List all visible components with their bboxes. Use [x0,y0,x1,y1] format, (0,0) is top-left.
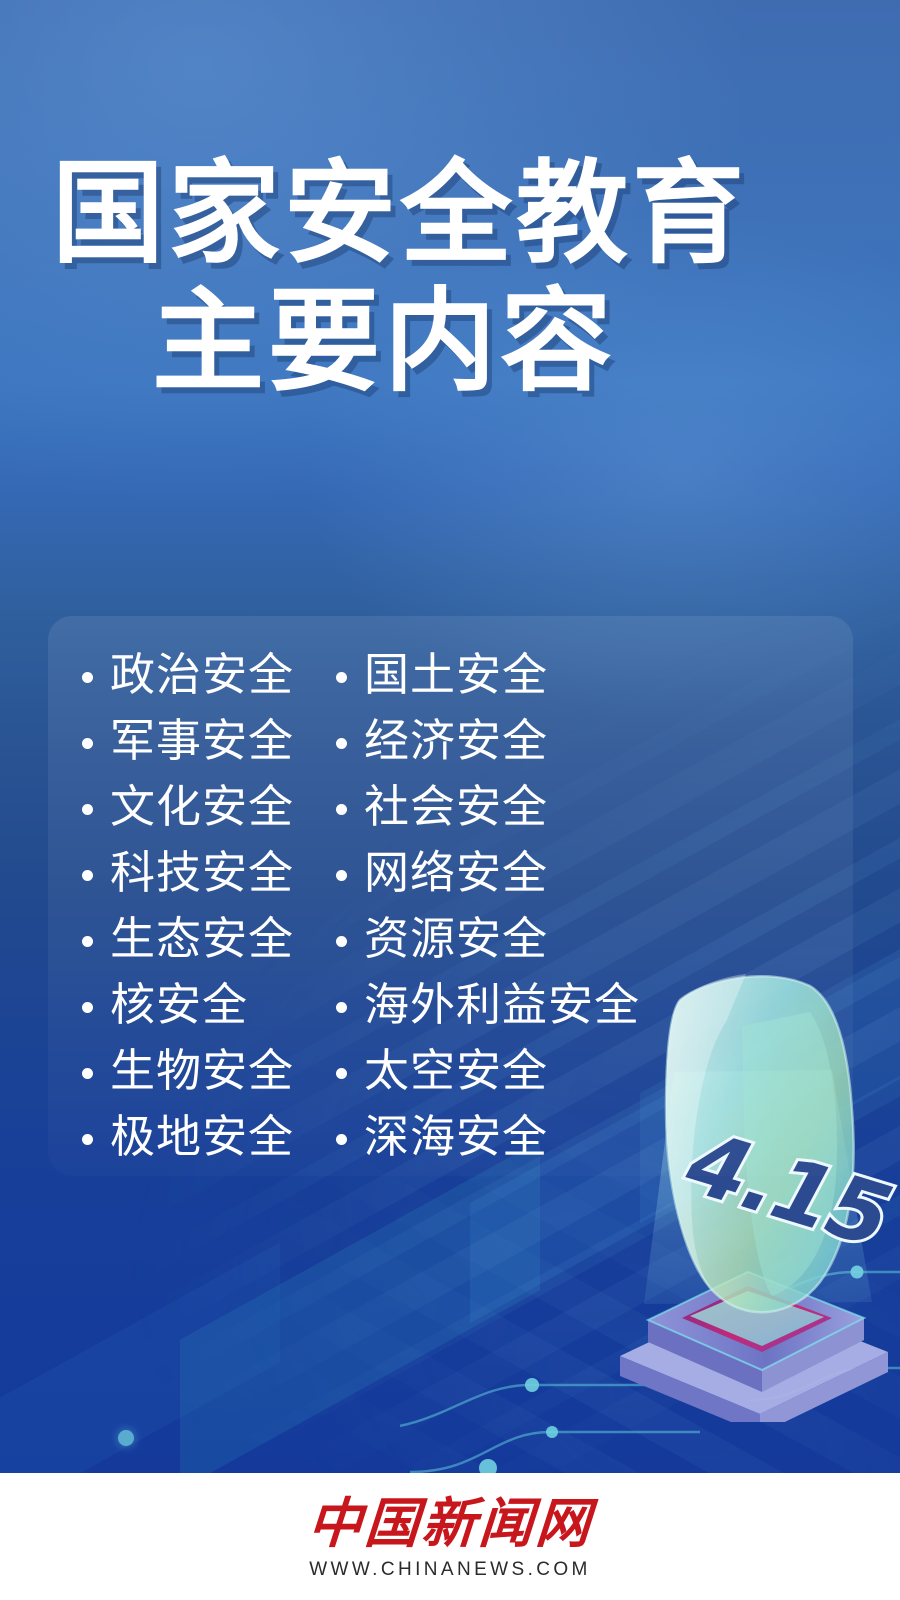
list-item: 国土安全 [330,648,548,702]
list-item: 社会安全 [330,780,548,834]
poster-root: 国家安全教育 主要内容 [0,0,900,1600]
title-line-1: 国家安全教育 [0,150,900,278]
list-row: 核安全 海外利益安全 [48,972,853,1038]
list-item: 生态安全 [48,912,330,966]
bullet-icon [82,738,93,749]
list-item-label: 极地安全 [110,1110,294,1164]
list-item: 经济安全 [330,714,548,768]
bullet-icon [336,1002,347,1013]
list-item: 海外利益安全 [330,978,640,1032]
poster-title: 国家安全教育 主要内容 [0,150,900,406]
list-item-label: 经济安全 [364,714,548,768]
list-item: 太空安全 [330,1044,548,1098]
security-list-card: 政治安全 国土安全 军事安全 经济安全 [48,616,853,1176]
chinanews-url: WWW.CHINANEWS.COM [309,1559,591,1581]
list-item-label: 生态安全 [110,912,294,966]
list-row: 政治安全 国土安全 [48,642,853,708]
list-item: 深海安全 [330,1110,548,1164]
list-item-label: 生物安全 [110,1044,294,1098]
list-item-label: 资源安全 [364,912,548,966]
bullet-icon [82,870,93,881]
chinanews-logo: 中国新闻网 [305,1493,594,1553]
list-row: 生物安全 太空安全 [48,1038,853,1104]
list-item-label: 国土安全 [364,648,548,702]
list-item-label: 网络安全 [364,846,548,900]
list-item-label: 文化安全 [110,780,294,834]
list-item: 核安全 [48,978,330,1032]
title-line-2: 主要内容 [0,278,900,406]
list-item-label: 海外利益安全 [364,978,640,1032]
bullet-icon [336,804,347,815]
bullet-icon [82,936,93,947]
list-row: 军事安全 经济安全 [48,708,853,774]
list-item: 极地安全 [48,1110,330,1164]
bullet-icon [336,1068,347,1079]
list-item-label: 社会安全 [364,780,548,834]
list-row: 文化安全 社会安全 [48,774,853,840]
list-item: 政治安全 [48,648,330,702]
list-item: 科技安全 [48,846,330,900]
list-item-label: 军事安全 [110,714,294,768]
security-list: 政治安全 国土安全 军事安全 经济安全 [48,616,853,1170]
bullet-icon [82,1068,93,1079]
bullet-icon [82,1134,93,1145]
bullet-icon [82,1002,93,1013]
bullet-icon [336,738,347,749]
list-item: 网络安全 [330,846,548,900]
list-item: 军事安全 [48,714,330,768]
bullet-icon [336,672,347,683]
list-item-label: 深海安全 [364,1110,548,1164]
bullet-icon [82,672,93,683]
list-item: 资源安全 [330,912,548,966]
list-item: 生物安全 [48,1044,330,1098]
bullet-icon [336,1134,347,1145]
bullet-icon [82,804,93,815]
bullet-icon [336,870,347,881]
list-item: 文化安全 [48,780,330,834]
list-item-label: 科技安全 [110,846,294,900]
list-item-label: 核安全 [110,978,248,1032]
list-row: 极地安全 深海安全 [48,1104,853,1170]
bullet-icon [336,936,347,947]
footer-branding: 中国新闻网 WWW.CHINANEWS.COM [0,1473,900,1600]
list-item-label: 政治安全 [110,648,294,702]
list-item-label: 太空安全 [364,1044,548,1098]
list-row: 科技安全 网络安全 [48,840,853,906]
list-row: 生态安全 资源安全 [48,906,853,972]
